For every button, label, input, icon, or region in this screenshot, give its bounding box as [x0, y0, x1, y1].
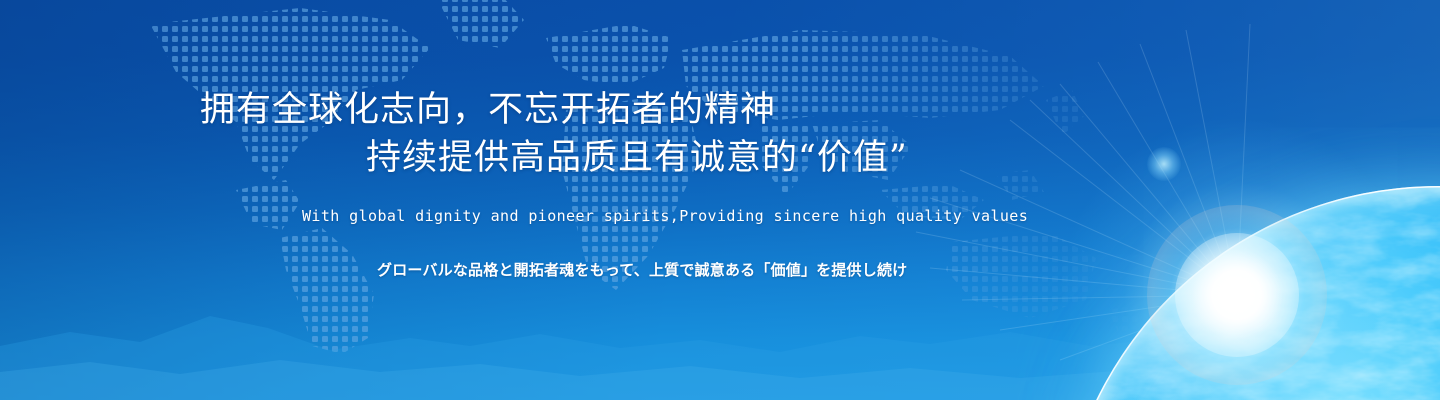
banner-subline-english: With global dignity and pioneer spirits,… — [302, 207, 1028, 225]
banner-subline-japanese: グローバルな品格と開拓者魂をもって、上質で誠意ある「価値」を提供し続け — [377, 259, 907, 280]
headline-line-1: 拥有全球化志向，不忘开拓者的精神 — [200, 90, 776, 130]
banner-copy: 拥有全球化志向，不忘开拓者的精神 持续提供高品质且有诚意的“价值” With g… — [0, 0, 1440, 400]
banner-headline: 拥有全球化志向，不忘开拓者的精神 持续提供高品质且有诚意的“价值” — [200, 86, 908, 182]
headline-line-2: 持续提供高品质且有诚意的“价值” — [200, 134, 908, 182]
hero-banner: 拥有全球化志向，不忘开拓者的精神 持续提供高品质且有诚意的“价值” With g… — [0, 0, 1440, 400]
